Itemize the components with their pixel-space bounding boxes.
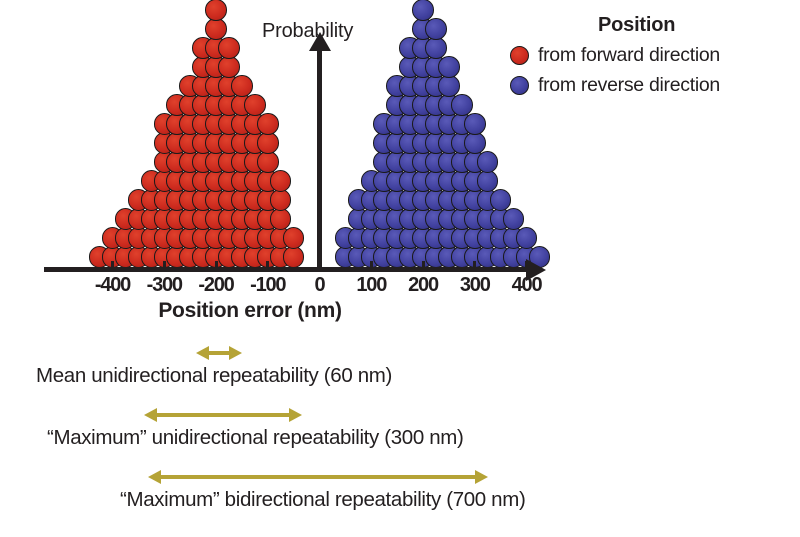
dot-plot-chart: Probability -400-300-200-100010020030040… [0, 0, 560, 300]
x-axis-tick-label: 400 [497, 274, 557, 297]
x-axis-tick-mark [111, 261, 114, 268]
annotation-max-unidirectional: “Maximum” unidirectional repeatability (… [0, 398, 800, 456]
annotation-arrow [148, 475, 488, 479]
figure-root: Probability -400-300-200-100010020030040… [0, 0, 800, 537]
annotation-arrow-head-left [148, 470, 161, 484]
legend-marker-red-circle-icon [510, 46, 529, 65]
x-axis-tick-mark [422, 261, 425, 268]
legend-title: Position [598, 14, 800, 37]
annotation-arrow-head-right [229, 346, 242, 360]
annotation-mean-unidirectional: Mean unidirectional repeatability (60 nm… [0, 336, 800, 394]
x-axis-tick-mark [318, 261, 321, 268]
x-axis-title: Position error (nm) [0, 299, 500, 323]
legend-marker-blue-circle-icon [510, 76, 529, 95]
x-axis-tick-mark [163, 261, 166, 268]
legend-item-forward[interactable]: from forward direction [510, 44, 800, 67]
annotation-label: “Maximum” unidirectional repeatability (… [47, 426, 464, 450]
annotation-arrow-head-left [196, 346, 209, 360]
annotation-arrow-shaft [151, 413, 295, 417]
annotation-arrow [144, 413, 302, 417]
legend-item-label: from reverse direction [538, 74, 720, 97]
annotation-arrow [196, 351, 242, 355]
x-axis-tick-mark [473, 261, 476, 268]
legend-item-reverse[interactable]: from reverse direction [510, 74, 800, 97]
x-axis-tick-mark [215, 261, 218, 268]
annotation-label: “Maximum” bidirectional repeatability (7… [120, 488, 525, 512]
annotation-arrow-shaft [155, 475, 481, 479]
legend-item-label: from forward direction [538, 44, 720, 67]
annotation-arrow-head-left [144, 408, 157, 422]
x-axis-tick-mark [370, 261, 373, 268]
legend: Position from forward direction from rev… [510, 14, 800, 97]
annotation-label: Mean unidirectional repeatability (60 nm… [36, 364, 392, 388]
annotation-max-bidirectional: “Maximum” bidirectional repeatability (7… [0, 460, 800, 520]
x-axis-tick-mark [525, 261, 528, 268]
x-axis-tick-mark [266, 261, 269, 268]
x-axis-ticks: -400-300-200-1000100200300400 [0, 0, 560, 300]
annotation-arrow-head-right [475, 470, 488, 484]
annotation-arrow-head-right [289, 408, 302, 422]
